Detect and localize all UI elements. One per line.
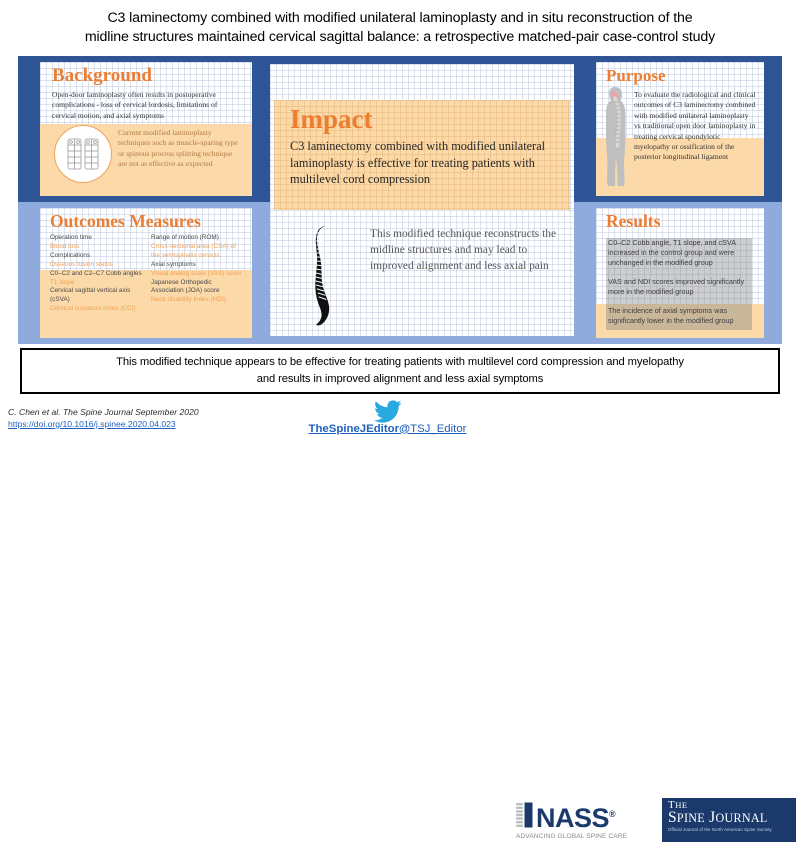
outcome-item: Osseous fusion status	[50, 261, 143, 270]
outcome-item: T1 slope	[50, 279, 143, 288]
center-statement-paragraph: This modified technique reconstructs the…	[370, 226, 556, 274]
conclusion-line-1: This modified technique appears to be ef…	[116, 354, 684, 371]
page-title-line-2: midline structures maintained cervical s…	[85, 28, 715, 47]
doi-link[interactable]: https://doi.org/10.1016/j.spinee.2020.04…	[8, 418, 176, 430]
twitter-handle-bold: TheSpineJEditor@	[309, 423, 411, 435]
outcome-item: Complications	[50, 252, 143, 261]
outcomes-left-column: Operation timeBlood lossComplicationsOss…	[50, 234, 143, 314]
outcomes-heading: Outcomes Measures	[50, 211, 252, 231]
section-impact: Impact C3 laminectomy combined with modi…	[274, 100, 570, 210]
result-item: C0–C2 Cobb angle, T1 slope, and cSVA inc…	[608, 238, 754, 268]
section-center-statement: This modified technique reconstructs the…	[270, 210, 574, 336]
outcome-item: Visual analog scale (VAS) score	[151, 270, 244, 279]
page-title: C3 laminectomy combined with modified un…	[0, 0, 800, 56]
outcome-item: Axial symptoms	[151, 261, 244, 270]
nass-spine-mark-icon	[516, 802, 534, 828]
citation-text: C. Chen et al. The Spine Journal Septemb…	[8, 406, 199, 418]
outcome-item: Operation time	[50, 234, 143, 243]
nass-tagline: ADVANCING GLOBAL SPINE CARE	[516, 833, 658, 840]
poster-body: Background Open-door laminoplasty often …	[18, 56, 782, 344]
results-list: C0–C2 Cobb angle, T1 slope, and cSVA inc…	[608, 238, 754, 335]
result-item: VAS and NDI scores improved significantl…	[608, 277, 754, 297]
outcome-item: Cervical curvature index (CCI)	[50, 305, 143, 314]
results-heading: Results	[606, 211, 764, 231]
conclusion-banner: This modified technique appears to be ef…	[20, 348, 780, 394]
twitter-bird-icon	[280, 400, 495, 423]
band-middle-bottom	[270, 336, 574, 344]
spine-journal-title: SPINE JOURNAL	[668, 810, 796, 826]
outcome-item: Blood loss	[50, 243, 143, 252]
vertebrae-pair-icon	[54, 125, 112, 183]
outcome-item: Japanese Orthopedic Association (JOA) sc…	[151, 279, 244, 297]
outcome-item: Range of motion (ROM)	[151, 234, 244, 243]
background-caption: Current modified laminoplasty techniques…	[118, 128, 242, 170]
section-purpose: Purpose	[596, 62, 764, 196]
section-background: Background Open-door laminoplasty often …	[40, 62, 252, 196]
spine-journal-subtitle: Official Journal of the North American S…	[668, 827, 796, 832]
impact-heading: Impact	[290, 104, 570, 134]
twitter-block: TheSpineJEditor@TSJ_Editor	[280, 400, 495, 435]
twitter-handle[interactable]: TheSpineJEditor@TSJ_Editor	[280, 423, 495, 435]
outcome-item: Cross-sectional area (CSA) of the semisp…	[151, 243, 244, 261]
outcomes-right-column: Range of motion (ROM)Cross-sectional are…	[151, 234, 244, 314]
spine-silhouette-icon	[306, 224, 346, 333]
spine-journal-logo: THE SPINE JOURNAL Official Journal of th…	[662, 798, 796, 842]
nass-logo: NASS® ADVANCING GLOBAL SPINE CARE	[516, 800, 658, 842]
conclusion-line-2: and results in improved alignment and le…	[257, 371, 544, 388]
footer: C. Chen et al. The Spine Journal Septemb…	[0, 396, 800, 450]
section-outcomes-measures: Outcomes Measures Operation timeBlood lo…	[40, 208, 252, 338]
purpose-paragraph: To evaluate the radiological and clinica…	[634, 90, 756, 163]
band-middle-top	[270, 56, 574, 64]
section-results: Results C0–C2 Cobb angle, T1 slope, and …	[596, 208, 764, 338]
nass-wordmark: NASS®	[536, 800, 658, 832]
outcome-item: Cervical sagittal vertical axis (cSVA)	[50, 287, 143, 305]
twitter-handle-normal: TSJ_Editor	[410, 423, 466, 435]
standing-body-spine-icon	[602, 84, 632, 193]
purpose-heading: Purpose	[606, 66, 764, 85]
background-heading: Background	[52, 66, 252, 86]
background-paragraph: Open-door laminoplasty often results in …	[52, 90, 232, 121]
result-item: The incidence of axial symptoms was sign…	[608, 306, 754, 326]
outcome-item: Neck disability index (NDI)	[151, 296, 244, 305]
impact-paragraph: C3 laminectomy combined with modified un…	[290, 138, 554, 188]
outcome-item: C0–C2 and C2–C7 Cobb angles	[50, 270, 143, 279]
page-title-line-1: C3 laminectomy combined with modified un…	[107, 9, 692, 28]
